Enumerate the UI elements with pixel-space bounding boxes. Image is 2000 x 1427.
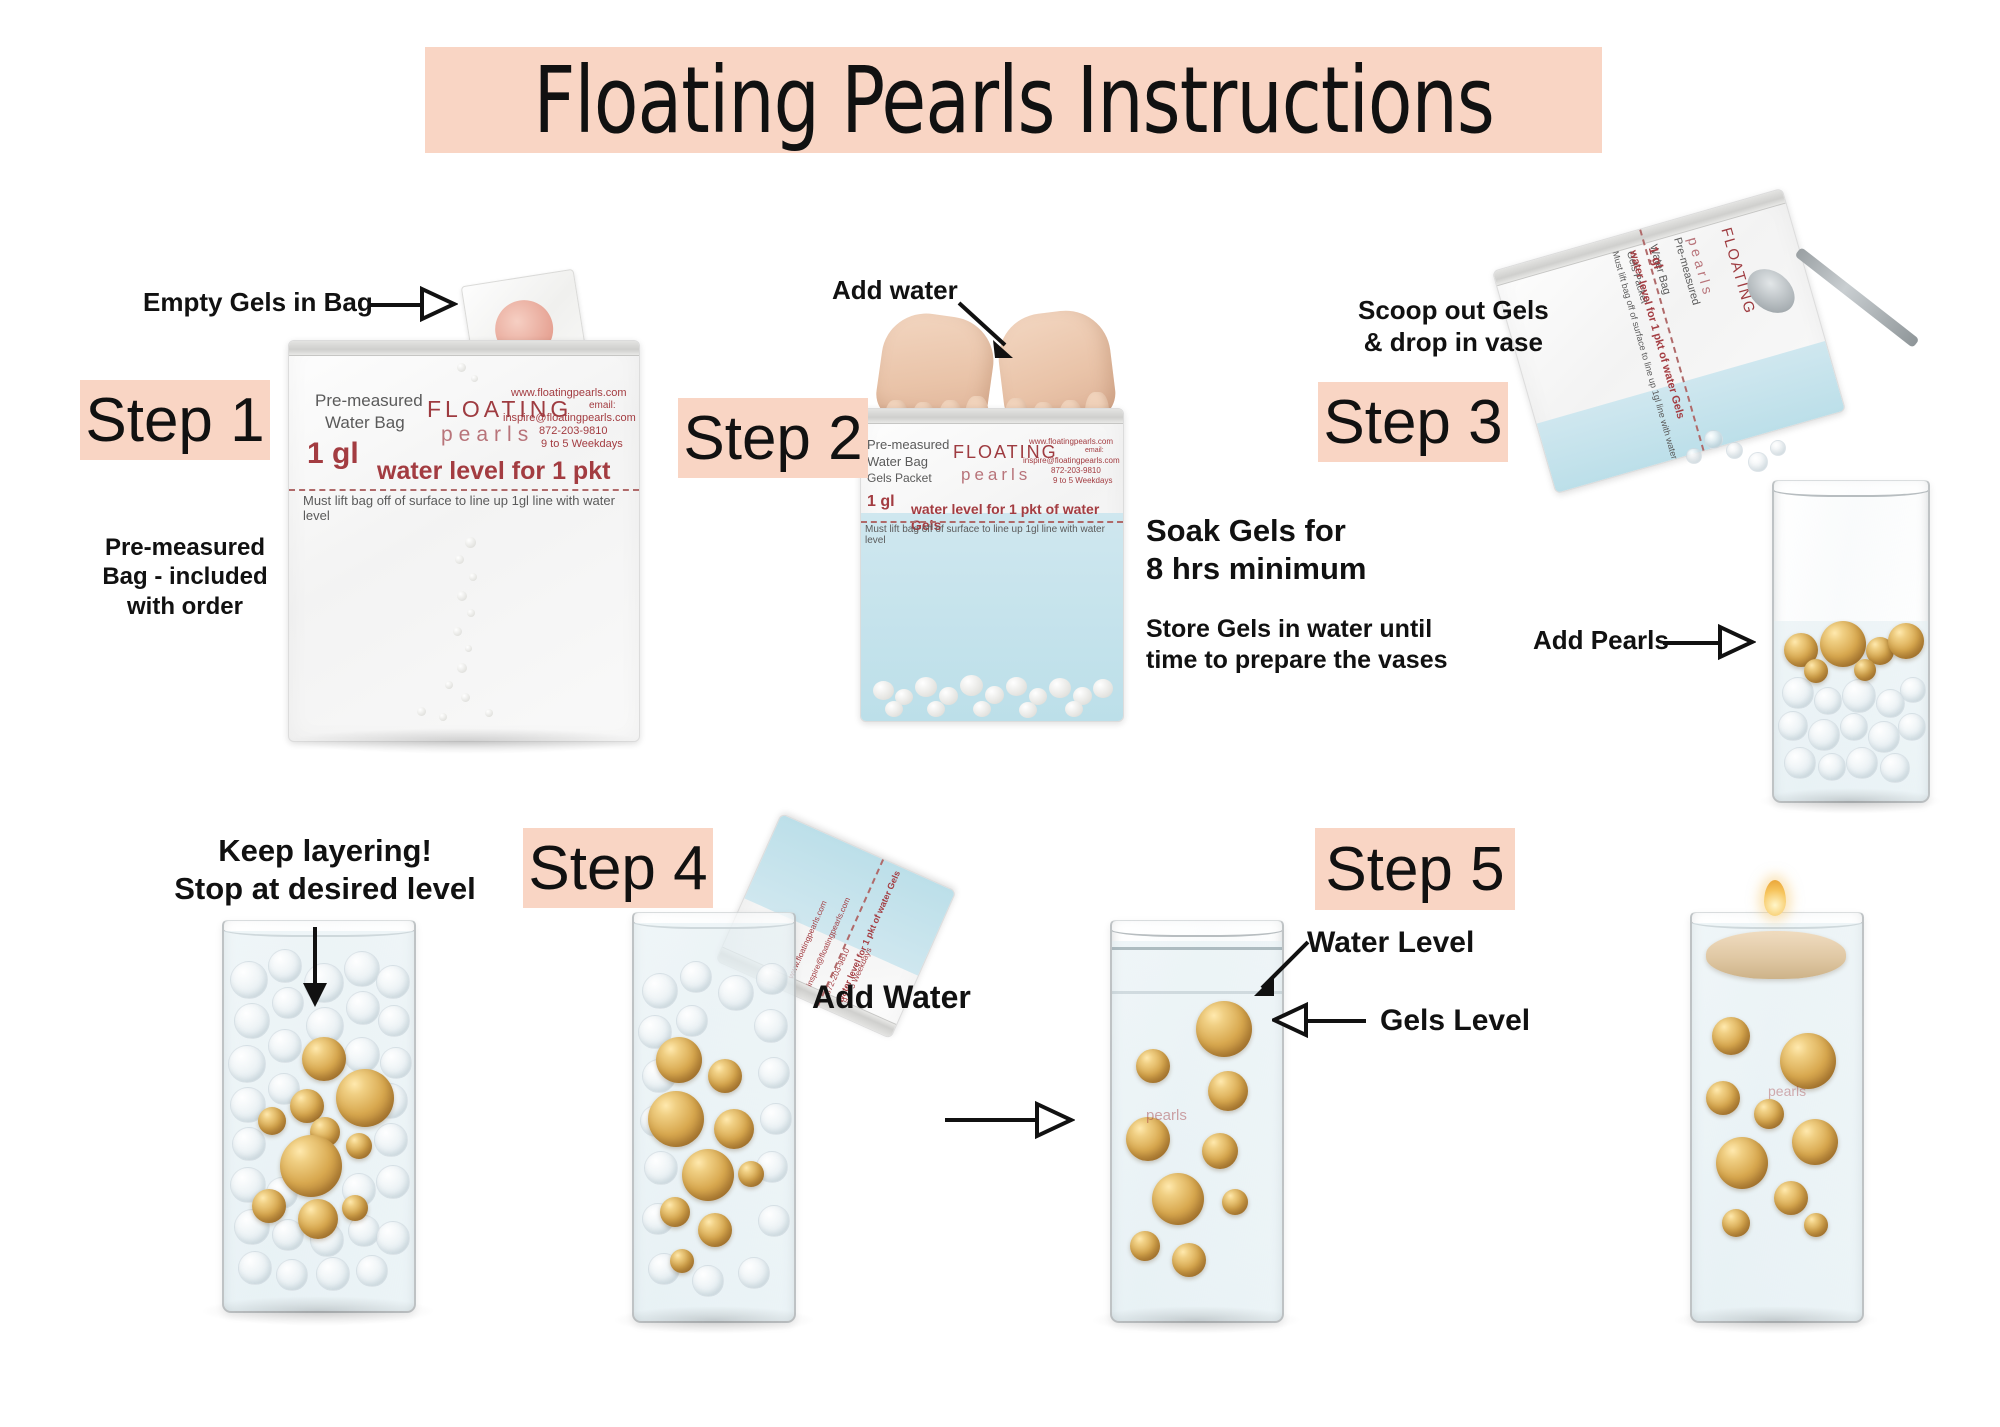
note-soak-sub: Store Gels in water until time to prepar… (1146, 614, 1448, 675)
note-keep-layering: Keep layering! Stop at desired level (130, 832, 520, 908)
arrow-right-icon (420, 285, 458, 323)
arrow-down-icon (955, 300, 1025, 365)
vase-brand-watermark: pearls (1768, 1083, 1806, 1099)
step-badge-4: Step 4 (523, 828, 713, 908)
step-badge-3-label: Step 3 (1323, 387, 1502, 458)
step-badge-1-label: Step 1 (85, 385, 264, 456)
shadow (1090, 1306, 1302, 1334)
page-title: Floating Pearls Instructions (533, 47, 1493, 154)
infographic-canvas: Floating Pearls Instructions Empty Gels … (0, 0, 2000, 1427)
note-premeasured-bag: Pre-measured Bag - included with order (90, 533, 280, 621)
shadow (286, 728, 644, 754)
step-badge-5-label: Step 5 (1325, 834, 1504, 905)
arrow-transition-line (945, 1118, 1043, 1122)
arrow-add-pearls-line (1663, 641, 1723, 645)
vase-brand-watermark: pearls (1146, 1107, 1187, 1124)
note-add-water-step4: Add Water (812, 978, 971, 1017)
step-badge-5: Step 5 (1315, 828, 1515, 910)
water-bag-step2: Pre-measured Water Bag Gels Packet 1 gl … (860, 408, 1124, 722)
note-empty-gels: Empty Gels in Bag (143, 287, 373, 319)
candle-flame-icon (1764, 880, 1786, 916)
note-scoop-out: Scoop out Gels & drop in vase (1358, 295, 1549, 358)
arrow-right-icon (1718, 623, 1756, 661)
step-badge-4-label: Step 4 (528, 833, 707, 904)
shadow (200, 1296, 436, 1326)
arrow-left-icon (1272, 1001, 1308, 1039)
arrow-empty-gels-line (370, 303, 425, 307)
note-add-pearls: Add Pearls (1533, 625, 1669, 657)
arrow-diagonal-icon (1244, 938, 1314, 1008)
shadow (612, 1306, 816, 1334)
note-add-water-top: Add water (832, 275, 958, 307)
bag-water-fill (1537, 341, 1845, 493)
vase-step3 (1772, 480, 1930, 803)
vase-step4 (632, 912, 796, 1323)
floating-candle (1706, 931, 1846, 979)
step-badge-2: Step 2 (678, 398, 868, 478)
water-bag-step1: Pre-measured Water Bag 1 gl FLOATING pea… (288, 340, 640, 742)
step-badge-3: Step 3 (1318, 382, 1508, 462)
note-gels-level: Gels Level (1380, 1003, 1530, 1040)
bag-gel-dots (289, 341, 639, 741)
bag-soaked-gels (861, 409, 1123, 721)
page-title-band: Floating Pearls Instructions (425, 47, 1602, 153)
vase-rim (1772, 480, 1930, 497)
note-soak-heading: Soak Gels for 8 hrs minimum (1146, 512, 1367, 588)
shadow (1758, 788, 1942, 814)
step-badge-1: Step 1 (80, 380, 270, 460)
arrow-right-icon (1035, 1100, 1075, 1140)
arrow-down-icon (298, 925, 332, 1011)
step-badge-2-label: Step 2 (683, 403, 862, 474)
arrow-gels-level-line (1300, 1019, 1366, 1023)
shadow (1672, 1306, 1880, 1334)
vase-rim (1110, 920, 1284, 937)
note-water-level: Water Level (1307, 925, 1474, 962)
vase-final-candle: pearls (1690, 912, 1864, 1323)
